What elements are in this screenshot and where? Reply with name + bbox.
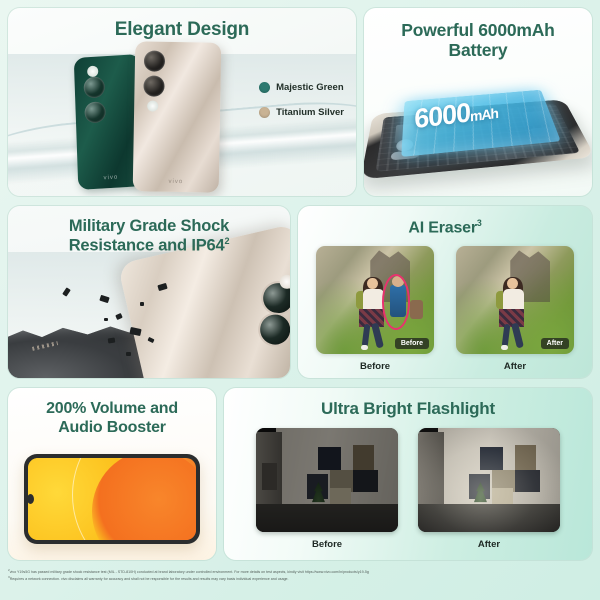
camera-module (83, 65, 111, 128)
panel-title-ai-eraser: AI Eraser3 (298, 206, 592, 238)
legend-item-titanium-silver: Titanium Silver (259, 107, 344, 118)
legend-label: Majestic Green (276, 82, 344, 93)
shoe (361, 345, 368, 350)
panel-battery: Powerful 6000mAh Battery 6000mAh (364, 8, 592, 196)
audio-title-line1: 200% Volume and (46, 400, 178, 417)
color-legend: Majestic Green Titanium Silver (259, 82, 344, 132)
battery-capacity-unit: mAh (470, 105, 498, 125)
image-badge: After (541, 338, 569, 349)
panel-ultra-bright-flashlight: Ultra Bright Flashlight (224, 388, 592, 560)
photo-before (256, 428, 398, 532)
photo-after (418, 428, 560, 532)
panel-military-grade: Military Grade Shock Resistance and IP64… (8, 206, 290, 378)
flashlight-overlay (418, 428, 560, 532)
photo-before: Before (316, 246, 434, 354)
comparison-caption: Before (256, 539, 398, 550)
battery-title-line1: Powerful 6000mAh (401, 20, 554, 40)
panel-title-military-grade: Military Grade Shock Resistance and IP64… (8, 206, 290, 256)
panel-elegant-design: Elegant Design vivo vivo (8, 8, 356, 196)
room-scene (256, 428, 398, 532)
wallpaper-arc (72, 458, 196, 540)
phone-wallpaper (28, 458, 196, 540)
brand-logo: vivo (133, 178, 219, 186)
footnote-line-1-text: vivo Y19s5G has passed military grade sh… (10, 570, 369, 574)
comparison-caption: After (456, 361, 574, 372)
phone-landscape (24, 454, 200, 544)
battery-capacity-value: 6000 (414, 97, 470, 134)
footnote-marker: 2 (224, 236, 229, 246)
camera-lens-icon (83, 76, 105, 98)
panel-ai-eraser: AI Eraser3 (298, 206, 592, 378)
shoe (501, 345, 508, 350)
audio-title-line2: Audio Booster (58, 419, 166, 436)
before-after-comparison: Before (224, 428, 592, 550)
before-after-comparison: Before Before After (298, 246, 592, 372)
design-phone-group: vivo vivo (68, 40, 258, 190)
comparison-item-before: Before (256, 428, 398, 550)
military-title-line1: Military Grade Shock (69, 217, 229, 235)
comparison-caption: Before (316, 361, 434, 372)
debris-particle (104, 318, 108, 321)
camera-lens-icon (144, 50, 165, 71)
phone-titanium-silver: vivo (133, 41, 222, 192)
photo-after: After (456, 246, 574, 354)
flash-icon (87, 66, 98, 78)
debris-particle (140, 302, 144, 306)
panel-audio-booster: 200% Volume and Audio Booster (8, 388, 216, 560)
panel-title-flashlight: Ultra Bright Flashlight (224, 388, 592, 419)
comparison-item-before: Before Before (316, 246, 434, 372)
legend-label: Titanium Silver (276, 107, 344, 118)
panel-title-battery: Powerful 6000mAh Battery (364, 8, 592, 61)
feature-grid: Elegant Design vivo vivo (0, 0, 600, 600)
front-camera-notch-icon (27, 494, 34, 504)
wallpaper-arc (109, 458, 196, 540)
flash-icon (147, 100, 158, 111)
footnote-block: 2vivo Y19s5G has passed military grade s… (8, 568, 592, 583)
military-title-line2: Resistance and IP64 (69, 237, 225, 255)
debris-particle (108, 338, 116, 344)
footnote-line-2: 3Requires a network connection. vivo dis… (8, 575, 592, 582)
subject-person (494, 278, 534, 347)
background-person-two (410, 300, 423, 319)
room-scene (418, 428, 560, 532)
color-swatch-icon (259, 107, 270, 118)
panel-title-audio-booster: 200% Volume and Audio Booster (8, 388, 216, 437)
camera-lens-icon (84, 101, 106, 123)
comparison-item-after: After After (456, 246, 574, 372)
comparison-item-after: After (418, 428, 560, 550)
footnote-line-1: 2vivo Y19s5G has passed military grade s… (8, 568, 592, 575)
battery-title-line2: Battery (449, 40, 508, 60)
image-badge: Before (395, 338, 429, 349)
debris-particle (126, 352, 131, 356)
camera-lens-icon (143, 75, 164, 96)
footnote-line-2-text: Requires a network connection. vivo disc… (10, 578, 289, 582)
camera-lens-icon (257, 312, 290, 348)
panel-title-elegant-design: Elegant Design (8, 8, 356, 41)
eraser-title-text: AI Eraser (408, 219, 476, 236)
low-light-overlay (256, 428, 398, 532)
color-swatch-icon (259, 82, 270, 93)
camera-module (235, 273, 290, 356)
selection-ellipse-marker (382, 274, 410, 330)
comparison-caption: After (418, 539, 560, 550)
legend-item-majestic-green: Majestic Green (259, 82, 344, 93)
battery-illustration: 6000mAh (364, 74, 592, 192)
camera-module (143, 50, 170, 111)
footnote-marker: 3 (477, 218, 482, 228)
